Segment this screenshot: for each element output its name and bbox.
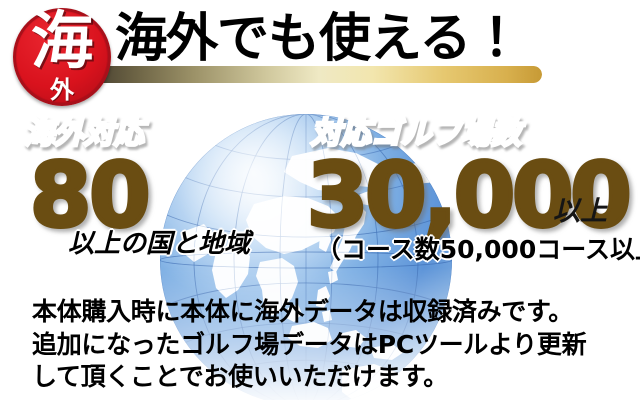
- stat-sub-countries: 以上の国と地域: [68, 231, 250, 257]
- stat-number-countries: 80: [30, 152, 148, 240]
- badge-main-char: 海: [13, 10, 111, 72]
- badge-sub-char: 外: [13, 78, 111, 102]
- stat-sub-courses: （コース数50,000コース以上）: [316, 237, 640, 262]
- page-title: 海外でも使える！: [115, 12, 521, 67]
- description-line-3: して頂くことでお使いいただけます。: [32, 361, 586, 394]
- advertisement-banner: 海 外 海外でも使える！ 海外対応 80 以上の国と地域 対応ゴルフ場数 30,…: [0, 0, 640, 400]
- overseas-badge: 海 外: [13, 8, 111, 106]
- description-text: 本体購入時に本体に海外データは収録済みです。 追加になったゴルフ場データはPCツ…: [32, 296, 586, 394]
- description-line-2: 追加になったゴルフ場データはPCツールより更新: [32, 329, 586, 362]
- description-line-1: 本体購入時に本体に海外データは収録済みです。: [32, 296, 586, 329]
- stat-suffix-courses: 以上: [553, 198, 607, 225]
